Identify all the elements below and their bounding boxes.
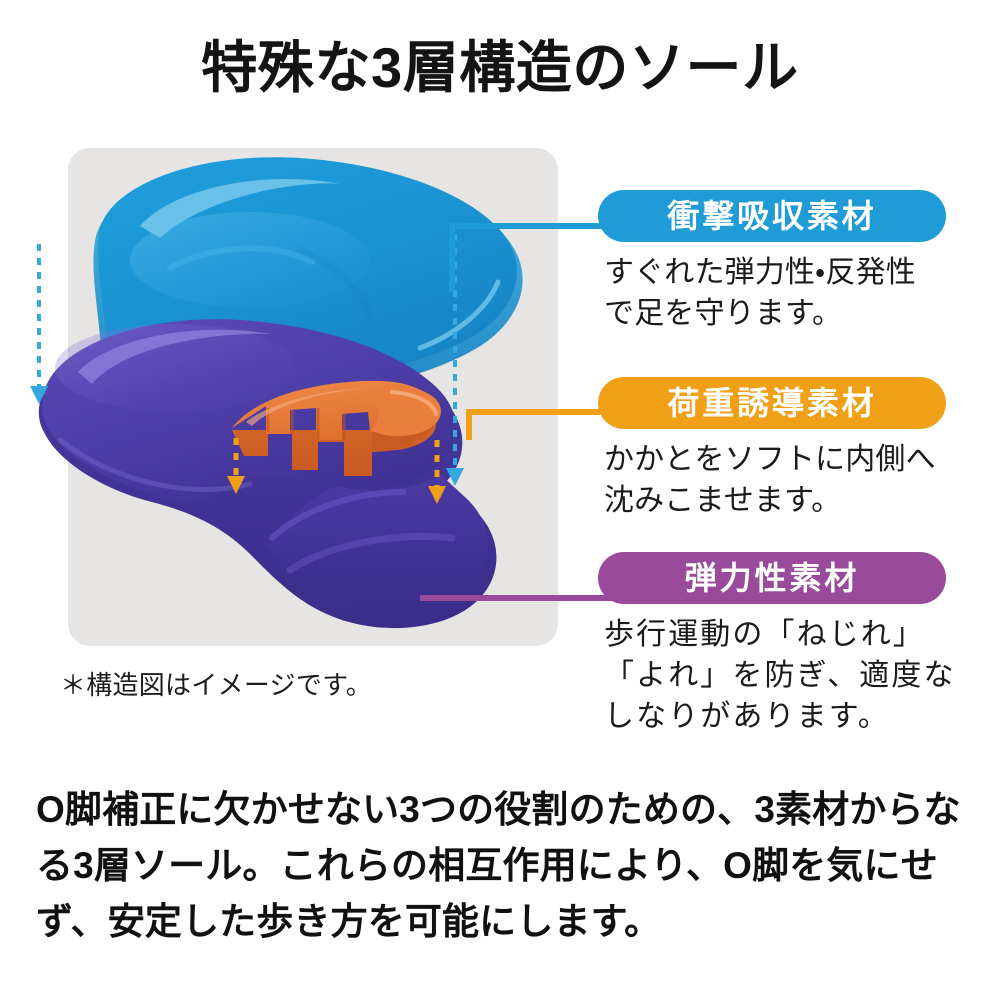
callout-description-line: で足を守ります。 xyxy=(604,293,958,334)
diagram-footnote: ＊構造図はイメージです。 xyxy=(60,665,372,702)
callout-description-line: 歩行運動の「ねじれ」 xyxy=(604,614,958,655)
callout-description-line: 沈みこませます。 xyxy=(604,480,958,521)
insole-exploded-diagram xyxy=(0,140,600,670)
callout-list: 衝撃吸収素材 すぐれた弾力性・反発性 で足を守ります。 荷重誘導素材 かかとをソ… xyxy=(598,190,958,738)
callout-description-elastic: 歩行運動の「ねじれ」 「よれ」を防ぎ、適度な しなりがあります。 xyxy=(598,614,958,738)
callout-description-line: 「よれ」を防ぎ、適度な xyxy=(604,655,958,696)
summary-paragraph: O脚補正に欠かせない3つの役割のための、3素材からなる3層ソール。これらの相互作… xyxy=(36,782,966,951)
callout-load-guiding: 荷重誘導素材 かかとをソフトに内側へ 沈みこませます。 xyxy=(598,377,958,522)
callout-description-line: すぐれた弾力性・反発性 xyxy=(604,252,958,293)
callout-label-load-guiding: 荷重誘導素材 xyxy=(598,377,946,429)
callout-elastic: 弾力性素材 歩行運動の「ねじれ」 「よれ」を防ぎ、適度な しなりがあります。 xyxy=(598,552,958,738)
callout-shock-absorbing: 衝撃吸収素材 すぐれた弾力性・反発性 で足を守ります。 xyxy=(598,190,958,335)
callout-label-elastic: 弾力性素材 xyxy=(598,552,946,604)
callout-description-line: かかとをソフトに内側へ xyxy=(604,439,958,480)
infographic-page: 特殊な3層構造のソール xyxy=(0,0,1000,1000)
callout-description-load-guiding: かかとをソフトに内側へ 沈みこませます。 xyxy=(598,439,958,522)
callout-label-shock-absorbing: 衝撃吸収素材 xyxy=(598,190,946,242)
callout-description-line: しなりがあります。 xyxy=(604,696,958,737)
page-title: 特殊な3層構造のソール xyxy=(0,36,1000,100)
callout-description-shock-absorbing: すぐれた弾力性・反発性 で足を守ります。 xyxy=(598,252,958,335)
